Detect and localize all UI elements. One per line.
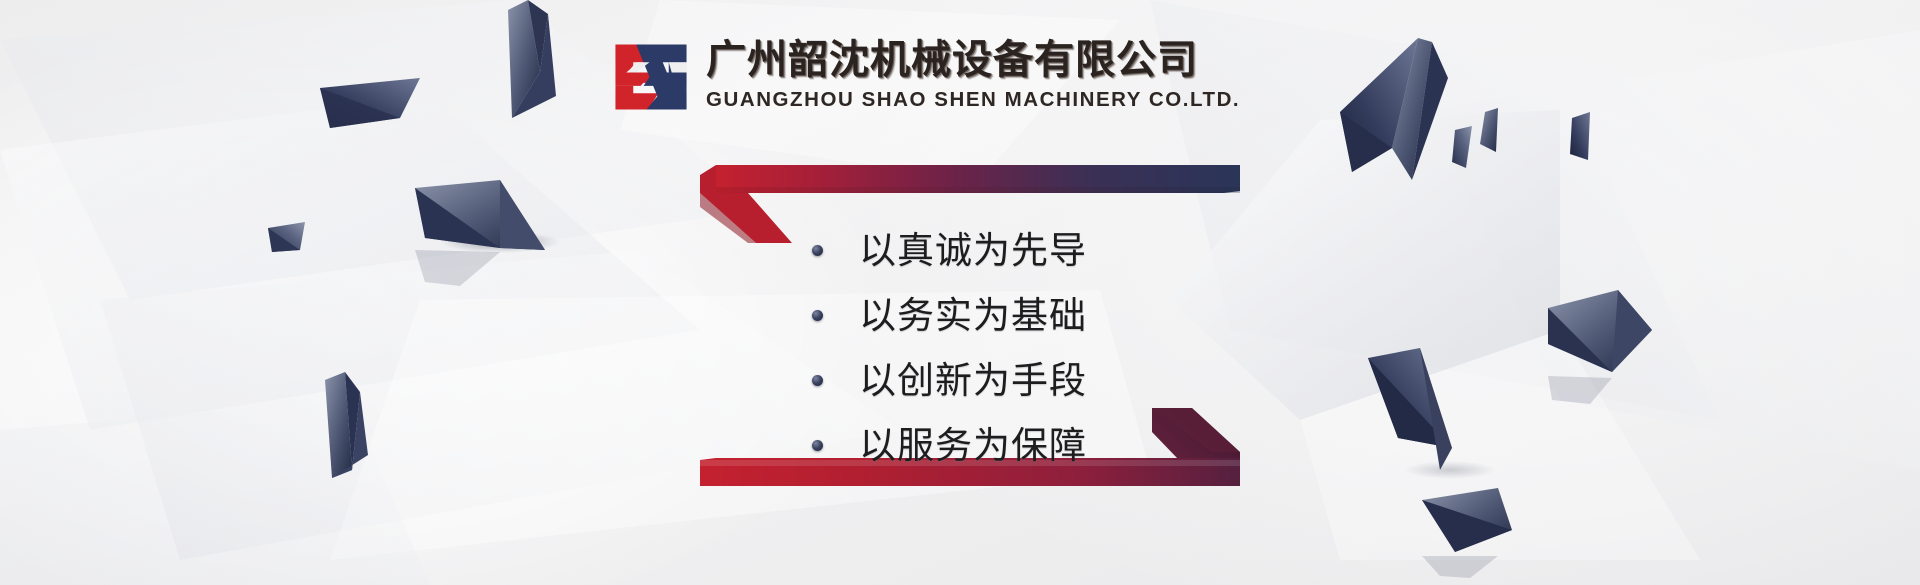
slogan-item: 以服务为保障 bbox=[812, 413, 1242, 478]
bullet-point-icon bbox=[812, 310, 823, 321]
company-name-en: GUANGZHOU SHAO SHEN MACHINERY CO.LTD. bbox=[706, 88, 1240, 113]
brand-text-block: 广州韶沈机械设备有限公司 GUANGZHOU SHAO SHEN MACHINE… bbox=[706, 38, 1240, 112]
slogan-label: 以真诚为先导 bbox=[859, 232, 1087, 269]
slogan-label: 以务实为基础 bbox=[859, 297, 1087, 334]
company-banner: 广州韶沈机械设备有限公司 GUANGZHOU SHAO SHEN MACHINE… bbox=[0, 0, 1920, 585]
slogan-label: 以服务为保障 bbox=[859, 427, 1087, 464]
bullet-point-icon bbox=[812, 375, 823, 386]
polygon-shard-group-left bbox=[268, 0, 556, 478]
brand-lockup: 广州韶沈机械设备有限公司 GUANGZHOU SHAO SHEN MACHINE… bbox=[614, 38, 1240, 114]
polygon-shard-group-right bbox=[1340, 38, 1652, 552]
slogan-list: 以真诚为先导 以务实为基础 以创新为手段 以服务为保障 bbox=[812, 218, 1242, 478]
slogan-item: 以真诚为先导 bbox=[812, 218, 1242, 283]
bullet-point-icon bbox=[812, 245, 823, 256]
slogan-label: 以创新为手段 bbox=[859, 362, 1087, 399]
company-logo-icon bbox=[614, 40, 688, 114]
company-name-cn: 广州韶沈机械设备有限公司 bbox=[706, 38, 1240, 83]
bullet-point-icon bbox=[812, 440, 823, 451]
slogan-item: 以创新为手段 bbox=[812, 348, 1242, 413]
slogan-item: 以务实为基础 bbox=[812, 283, 1242, 348]
